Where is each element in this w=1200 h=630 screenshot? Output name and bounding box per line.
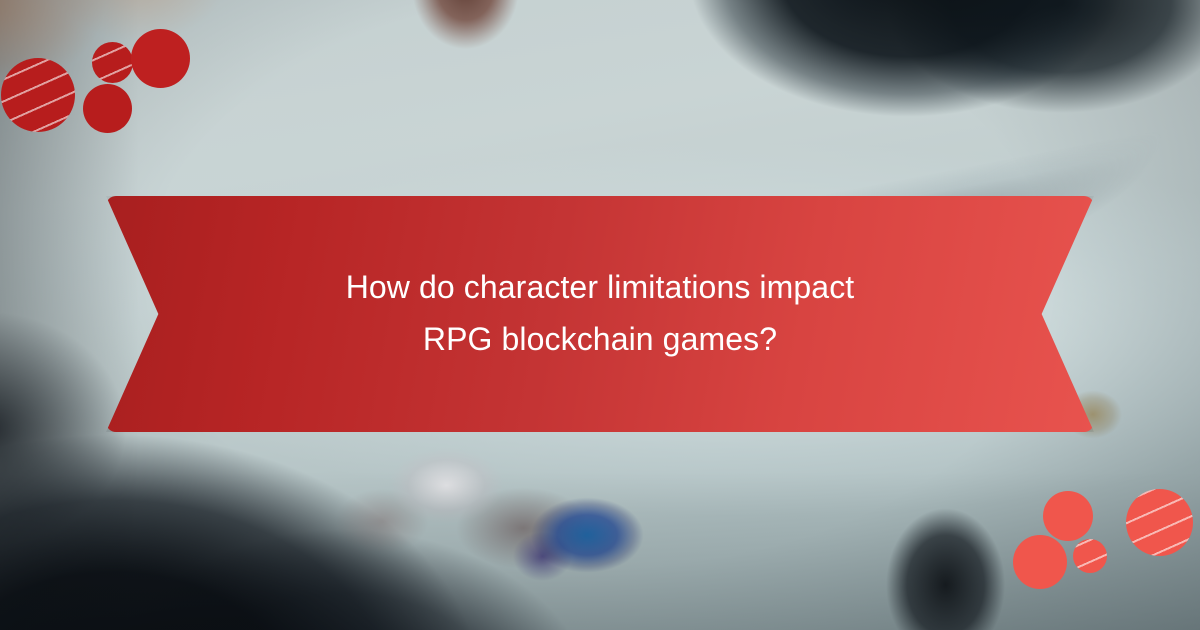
decorative-circle bbox=[1043, 491, 1093, 541]
decorative-circle-striped bbox=[1126, 489, 1193, 556]
ribbon-banner: How do character limitations impact RPG … bbox=[106, 196, 1094, 432]
decorative-circle bbox=[83, 84, 132, 133]
social-card-stage: How do character limitations impact RPG … bbox=[0, 0, 1200, 630]
decorative-circle-striped bbox=[1073, 539, 1107, 573]
decorative-circle bbox=[1013, 535, 1067, 589]
decorative-circle bbox=[131, 29, 190, 88]
page-title: How do character limitations impact RPG … bbox=[320, 261, 880, 367]
decorative-circle-striped bbox=[1, 58, 75, 132]
decorative-circle-striped bbox=[92, 42, 133, 83]
